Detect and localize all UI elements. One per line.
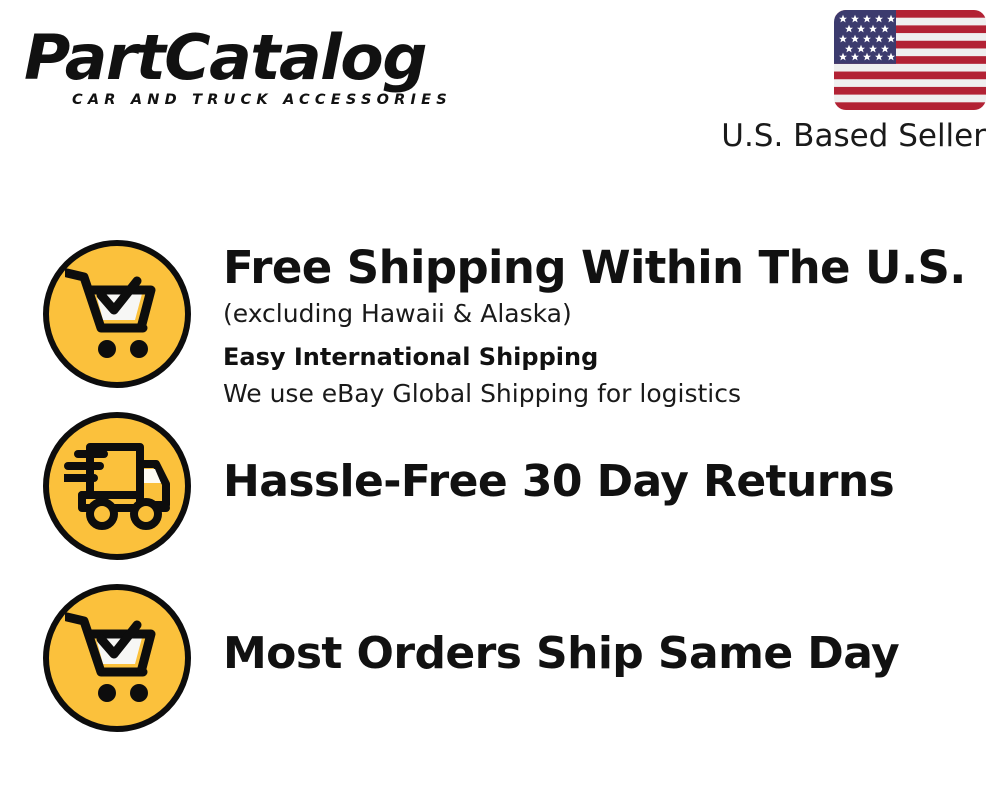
brand-name: PartCatalog [24, 22, 503, 94]
us-flag-wrapper [721, 10, 986, 110]
shopping-cart-check-icon [65, 264, 169, 364]
feature-text-block: Free Shipping Within The U.S. (excluding… [223, 240, 966, 412]
banner-header: PartCatalog CAR AND TRUCK ACCESSORIES [0, 0, 1000, 170]
feature-text-block: Most Orders Ship Same Day [223, 584, 899, 680]
feature-sub-text: We use eBay Global Shipping for logistic… [223, 376, 966, 412]
delivery-truck-icon [64, 442, 170, 530]
feature-note: (excluding Hawaii & Alaska) [223, 296, 966, 332]
feature-title: Free Shipping Within The U.S. [223, 240, 966, 296]
feature-title: Hassle-Free 30 Day Returns [223, 456, 894, 508]
shopping-cart-check-icon [65, 608, 169, 708]
feature-list: Free Shipping Within The U.S. (excluding… [0, 240, 1000, 756]
brand-tagline: CAR AND TRUCK ACCESSORIES [72, 92, 494, 108]
feature-text-block: Hassle-Free 30 Day Returns [223, 412, 894, 508]
delivery-truck-icon-badge [43, 412, 191, 560]
shopping-cart-check-icon-badge [43, 240, 191, 388]
feature-row: Most Orders Ship Same Day [0, 584, 1000, 756]
promo-banner: PartCatalog CAR AND TRUCK ACCESSORIES [0, 0, 1000, 800]
feature-sub-heading: Easy International Shipping [223, 338, 966, 376]
us-based-seller-block: U.S. Based Seller [721, 10, 986, 156]
shopping-cart-check-icon-badge [43, 584, 191, 732]
feature-title: Most Orders Ship Same Day [223, 628, 899, 680]
us-flag-icon [834, 10, 986, 110]
us-based-seller-label: U.S. Based Seller [721, 116, 986, 156]
feature-row: Free Shipping Within The U.S. (excluding… [0, 240, 1000, 412]
feature-row: Hassle-Free 30 Day Returns [0, 412, 1000, 584]
brand-logo: PartCatalog CAR AND TRUCK ACCESSORIES [24, 22, 494, 108]
